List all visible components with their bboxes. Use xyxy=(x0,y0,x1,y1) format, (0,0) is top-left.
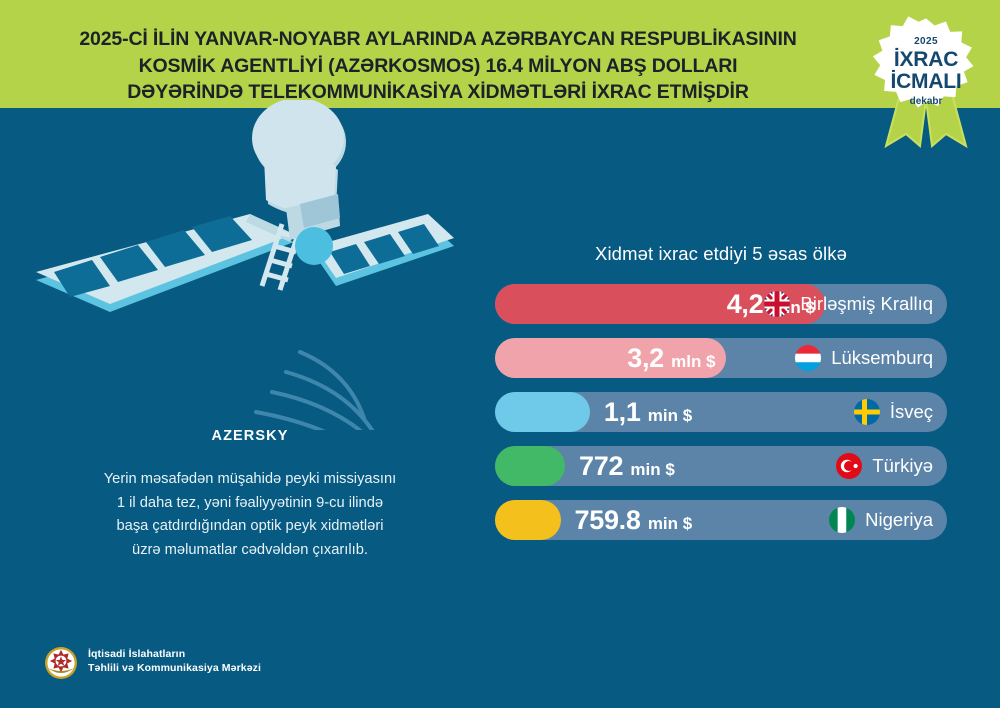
bar-value-unit: min $ xyxy=(630,460,674,479)
bar-country-label: Birləşmiş Krallıq xyxy=(800,284,933,324)
chart-title: Xidmət ixrac etdiyi 5 əsas ölkə xyxy=(495,243,947,265)
note-line-4: üzrə məlumatlar cədvəldən çıxarılıb. xyxy=(30,539,470,563)
bar-country-label: Lüksemburq xyxy=(831,338,933,378)
azersky-label: AZERSKY xyxy=(30,428,470,444)
footer-org-name: İqtisadi İslahatların Təhlili və Kommuni… xyxy=(88,648,261,675)
bar-value: 772 min $ xyxy=(579,446,675,486)
badge-year: 2025 xyxy=(862,36,990,47)
bar-fill xyxy=(495,446,565,486)
footer-line-2: Təhlili və Kommunikasiya Mərkəzi xyxy=(88,662,261,676)
header-band: 2025-Cİ İLİN YANVAR-NOYABR AYLARINDA AZƏ… xyxy=(0,0,1000,108)
page-title: 2025-Cİ İLİN YANVAR-NOYABR AYLARINDA AZƏ… xyxy=(28,26,848,106)
bar-value-number: 3,2 xyxy=(627,343,664,373)
badge-month: dekabr xyxy=(862,96,990,107)
bar-row-sweden: 1,1 min $ İsveç xyxy=(495,392,947,432)
bar-fill xyxy=(495,500,561,540)
bar-value: 3,2 mln $ xyxy=(627,338,715,378)
note-line-2: 1 il daha tez, yəni fəaliyyətinin 9-cu i… xyxy=(30,492,470,516)
note-line-3: başa çatdırdığından optik peyk xidmətlər… xyxy=(30,515,470,539)
bar-country-label: Türkiyə xyxy=(872,446,933,486)
solar-panel-left xyxy=(36,214,294,312)
bar-fill xyxy=(495,392,590,432)
bar-country-label: İsveç xyxy=(890,392,933,432)
bar-value-unit: min $ xyxy=(648,406,692,425)
country-bar-chart: 4,2 mln $ Birləşmiş Krallıq 3,2 mln $ xyxy=(495,284,947,554)
note-line-1: Yerin məsafədən müşahidə peyki missiyası… xyxy=(30,468,470,492)
bar-value: 1,1 min $ xyxy=(604,392,692,432)
infographic-page: 2025-Cİ İLİN YANVAR-NOYABR AYLARINDA AZƏ… xyxy=(0,0,1000,708)
bar-value-number: 1,1 xyxy=(604,397,641,427)
bar-value: 759.8 min $ xyxy=(575,500,693,540)
title-line-2: KOSMİK AGENTLİYİ (AZƏRKOSMOS) 16.4 MİLYO… xyxy=(28,53,848,80)
azersky-note: Yerin məsafədən müşahidə peyki missiyası… xyxy=(30,468,470,562)
bar-country-label: Nigeriya xyxy=(865,500,933,540)
bar-value-unit: min $ xyxy=(648,514,692,533)
badge-line-1: İXRAC xyxy=(862,48,990,72)
azerbaijan-star-emblem-icon xyxy=(44,646,78,680)
flag-sweden-icon xyxy=(854,399,880,425)
signal-waves-icon xyxy=(256,352,430,430)
footer-line-1: İqtisadi İslahatların xyxy=(88,648,261,662)
bar-value-number: 759.8 xyxy=(575,505,641,535)
bar-row-luxembourg: 3,2 mln $ Lüksemburq xyxy=(495,338,947,378)
bar-row-nigeria: 759.8 min $ Nigeriya xyxy=(495,500,947,540)
flag-luxembourg-icon xyxy=(795,345,821,371)
badge-line-2: İCMALI xyxy=(862,70,990,94)
satellite-illustration xyxy=(18,100,488,430)
flag-nigeria-icon xyxy=(829,507,855,533)
bar-value-number: 772 xyxy=(579,451,623,481)
bar-value-unit: mln $ xyxy=(671,352,715,371)
bar-value-number: 4,2 xyxy=(727,289,764,319)
bar-row-united-kingdom: 4,2 mln $ Birləşmiş Krallıq xyxy=(495,284,947,324)
title-line-1: 2025-Cİ İLİN YANVAR-NOYABR AYLARINDA AZƏ… xyxy=(28,26,848,53)
export-review-badge: 2025 İXRAC İCMALI dekabr xyxy=(862,8,990,148)
bar-row-turkiye: 772 min $ Türkiyə xyxy=(495,446,947,486)
